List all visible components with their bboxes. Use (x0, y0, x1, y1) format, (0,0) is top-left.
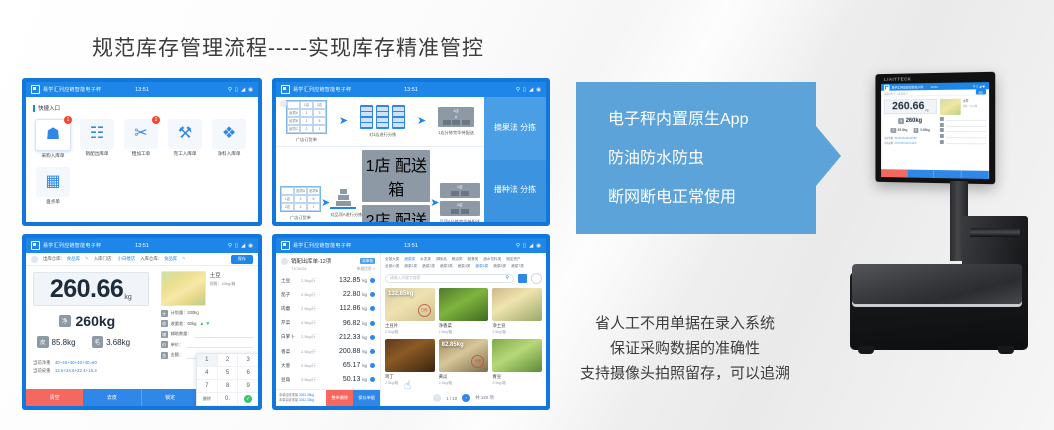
clock-icon: ◉ (248, 243, 253, 249)
clear-button[interactable]: 清空 (26, 389, 83, 406)
item-qty: 132.85 (327, 277, 360, 284)
search-icon[interactable]: ⚲ (228, 243, 232, 249)
total-count: 共 120 项 (475, 395, 494, 401)
device-net-row: 净 260kg (884, 118, 937, 124)
weight-value: 260.66 (50, 277, 123, 302)
edit-icon[interactable]: ✎ (182, 256, 186, 262)
product-name: 土豆 (210, 271, 236, 279)
product-summary: 土豆 规格：40kg/箱 (161, 271, 253, 306)
net-value: 260kg (76, 313, 116, 329)
field-label: 收量差：60kg (171, 321, 197, 327)
tile-label: 销配出库单 (76, 151, 118, 157)
product-image (161, 271, 206, 306)
item-qty: 112.86 (327, 305, 360, 312)
key-7[interactable]: 7 (197, 380, 218, 393)
weight-overlay: 82.85kg (442, 342, 464, 348)
field-price[interactable]: 价 单价： (161, 341, 253, 348)
tile-label: 完工入库单 (164, 151, 206, 157)
tile-finished-inbound[interactable]: ⚒ 完工入库单 (164, 119, 206, 159)
item-unit: kg (362, 349, 367, 354)
category-filter-row-2[interactable]: 全部小类 蔬菜1类 蔬菜2类 蔬菜3类 蔬菜4类 蔬菜5类 蔬菜6类 蔬菜7类 (385, 263, 542, 270)
cart-icon (330, 189, 356, 209)
device-field-row (940, 122, 986, 126)
order-mini-table: 品项A品项B 1店35 2店21 (280, 186, 321, 212)
numeric-keypad[interactable]: 1 2 3 4 5 6 7 8 9 删除 0. ✓ (196, 353, 258, 406)
status-bar: 易学汇列应链智能电子秤 13:51 ⚲ ▯ ◢ ◉ (276, 82, 546, 97)
status-icons: ⚲ ▯ ◢ ◉ (228, 243, 253, 249)
key-6[interactable]: 6 (238, 367, 258, 380)
callout-line-2: 防油防水防虫 (608, 151, 816, 167)
product-name: 净香菜 (439, 323, 489, 329)
sum2-value: 3262.33kg (299, 398, 314, 402)
item-spec: 2.5kg/斤 (301, 377, 327, 383)
flow-step-caption: 广店订货单 (286, 137, 327, 143)
weigh-toolbar: 出库仓库: 食品库 ✎ 入库门店: 小白楼店 入库仓库: 食品库 ✎ 保存 (26, 253, 258, 266)
in-warehouse-label: 入库仓库: (140, 256, 159, 262)
flow-row-pick-method: 1店2店 品项A13 品项B15 品项C21 广店订货单 ➤ (276, 97, 484, 146)
field-diff-qty: 收 收量差：60kg ▲▼ (161, 320, 253, 327)
subcategory-7[interactable]: 蔬菜7类 (511, 264, 524, 268)
device-foot-left (858, 346, 874, 354)
page-indicator: 1 / 10 (446, 396, 457, 401)
item-name: 茄子 (281, 292, 301, 298)
table-row[interactable]: 芹菜 2.5kg/斤 96.82 kg (276, 316, 380, 330)
item-name: 芹菜 (281, 320, 301, 326)
flow-step-order-table: 1店2店 品项A13 品项B15 品项C21 广店订货单 (286, 100, 327, 143)
key-9[interactable]: 9 (238, 380, 258, 393)
subcategory-4[interactable]: 蔬菜4类 (458, 264, 471, 268)
app-logo-icon (31, 85, 40, 94)
result-box-store2: 2店 (440, 201, 480, 216)
device-brand-label: LIAITTECK (884, 76, 912, 81)
prev-page-button[interactable]: ‹ (433, 394, 441, 402)
item-spec: 2.5kg/斤 (301, 334, 327, 340)
tare-sum-row: 当前皮重 12.5+34.6+22.4+16.3 (33, 367, 149, 375)
device-gross-value: 3.68kg (920, 128, 930, 132)
product-card-grid: 132.85kg 已称 土豆片 2.5kg/箱 净香菜 2.5kg/箱 净土豆 (385, 288, 542, 386)
delivery-tag: 2店 配送箱 (362, 205, 430, 222)
result-box-title: 2店 (442, 203, 478, 208)
key-2[interactable]: 2 (218, 354, 239, 367)
order-mini-table: 1店2店 品项A13 品项B15 品项C21 (286, 100, 327, 134)
flow-step-caption: 品项A分拣完毕待配送 (440, 219, 480, 223)
subcategory-3[interactable]: 蔬菜3类 (440, 264, 453, 268)
tare-gross-row: 皮 85.8kg 毛 3.68kg (37, 336, 149, 348)
subcategory-1[interactable]: 蔬菜1类 (404, 264, 417, 268)
result-box-store1: 1店 (440, 183, 480, 198)
device-tare-gross-row: 皮85.8kg 毛3.68kg (884, 128, 937, 132)
product-name: 净土豆 (492, 323, 542, 329)
arrow-right-icon: ➤ (430, 198, 439, 209)
callout-line-1: 电子秤内置原生App (608, 112, 816, 128)
weight-display: 260.66 kg (33, 272, 149, 306)
subcategory-all[interactable]: 全部小类 (385, 264, 399, 268)
item-check-icon[interactable] (370, 321, 375, 326)
table-row[interactable]: 豆角 2.5kg/斤 50.13 kg (276, 373, 380, 387)
battery-icon: ▯ (235, 87, 238, 93)
net-sum-label: 当前净重 (33, 360, 51, 365)
feature-callout: 电子秤内置原生App 防油防水防虫 断网断电正常使用 (576, 82, 816, 234)
wifi-icon: ◢ (529, 87, 533, 93)
subcategory-5[interactable]: 蔬菜5类 (476, 264, 489, 268)
product-card[interactable]: 青豆 2.5kg/箱 (492, 339, 542, 386)
trend-icon: ▲▼ (199, 321, 211, 327)
item-check-icon[interactable] (370, 377, 375, 382)
item-spec: 2.5kg/斤 (301, 278, 327, 284)
product-card[interactable]: 净香菜 2.5kg/箱 (439, 288, 489, 335)
grid-icon: ▦ (36, 167, 70, 197)
tile-sales-outbound[interactable]: ☷ 销配出库单 (76, 119, 118, 159)
key-8[interactable]: 8 (218, 380, 239, 393)
order-title: 销配出库单-12项 (291, 257, 331, 265)
device-clock: 13:51 (881, 84, 989, 90)
device-weight-unit: kg (925, 108, 928, 112)
tare-sum-label: 当前皮重 (33, 368, 51, 373)
key-4[interactable]: 4 (197, 367, 218, 380)
sum1-label: 本单应收重量 (279, 393, 298, 397)
flow-side-labels: 摘果法 分拣 播种法 分拣 (484, 97, 546, 222)
device-sum2-label: 当前皮重 (884, 141, 893, 144)
table-row[interactable]: 香菜 2.5kg/斤 200.88 kg (276, 344, 380, 358)
field-label: 辅助数量： (171, 331, 192, 337)
tare-button[interactable]: 去皮 (83, 389, 141, 406)
device-tare-tag: 皮 (891, 128, 896, 133)
gross-tag: 毛 (92, 336, 104, 348)
item-name: 白萝卜 (281, 334, 301, 340)
net-sum-row: 当前净重 40+40+40+40+40=60 (33, 359, 149, 367)
tile-purchase-inbound[interactable]: 1 ☗ 采购入库单 (32, 119, 74, 159)
net-tag: 净 (59, 315, 71, 327)
device-screen: LIAITTECK 易学汇供应链智能电子秤 13:51 ⚲▯◢◉ 出库仓库 ✎ … (875, 72, 995, 185)
item-spec: 2.5kg/斤 (301, 306, 327, 312)
device-product-image (940, 99, 961, 115)
status-icons: ⚲ ▯ ◢ ◉ (516, 87, 541, 93)
device-product: 土豆 规格：40kg/箱 (940, 98, 986, 115)
net-weight-row: 净 260kg (59, 313, 149, 329)
quick-entry-section-title: 快捷入口 (33, 104, 258, 112)
diff-icon: 收 (161, 320, 168, 327)
field-plan-qty: 计 计划量：200kg (161, 310, 253, 317)
product-spec: 2.5kg/箱 (492, 381, 542, 386)
product-spec: 规格：40kg/箱 (210, 281, 236, 287)
item-unit: kg (362, 377, 367, 382)
flow-step-result: 1店 2店 品项A分拣完毕待配送 (440, 183, 480, 223)
device-save-button[interactable]: 保存 (975, 89, 986, 94)
scale-device-photo: LIAITTECK 易学汇供应链智能电子秤 13:51 ⚲▯◢◉ 出库仓库 ✎ … (846, 58, 1054, 430)
in-store-label: 入库门店: (94, 256, 113, 262)
battery-icon: ▯ (523, 243, 526, 249)
search-icon[interactable]: ⚲ (516, 87, 520, 93)
next-page-button[interactable]: › (462, 394, 470, 402)
subcategory-2[interactable]: 蔬菜2类 (422, 264, 435, 268)
device-field-row (940, 134, 986, 138)
product-spec: 2.5kg/箱 (439, 330, 489, 335)
weight-unit: kg (124, 294, 131, 301)
table-row[interactable]: 肉蘑 2.5kg/斤 112.86 kg (276, 302, 380, 316)
aux-icon: 辅 (161, 331, 168, 338)
edit-icon[interactable]: ✎ (85, 256, 89, 262)
device-sums: 当前净重40+40+40+40+40=60 当前皮重12.5+34.6+22.4… (884, 137, 937, 146)
product-image: 82.85kg 已称 (439, 339, 489, 372)
device-sum1-value: 40+40+40+40+40=60 (894, 137, 916, 140)
item-name: 豆角 (281, 377, 301, 383)
battery-icon: ▯ (235, 243, 238, 249)
item-spec: 2.5kg/斤 (301, 320, 327, 326)
status-badge: 未审核 (360, 258, 375, 264)
category-fixed-assets[interactable]: 固定资产 (506, 257, 520, 261)
device-gross-tag: 毛 (913, 128, 918, 133)
category-all[interactable]: 全部大类 (385, 257, 399, 261)
table-row[interactable]: 白萝卜 2.5kg/斤 212.33 kg (276, 330, 380, 344)
app-logo-icon (31, 241, 40, 250)
item-check-icon[interactable] (370, 363, 375, 368)
product-image (492, 339, 542, 372)
pagination: ‹ 1 / 10 › 共 120 项 (385, 391, 542, 406)
item-unit: kg (362, 363, 367, 368)
device-weight-display: 260.66 kg (884, 99, 937, 114)
order-footer: 本单应收重量 3262.35kg 本单实收重量 3262.33kg 整单删除 保… (276, 389, 380, 406)
flow-step-racks: 对1店进行分拣 (360, 105, 405, 139)
inbound-basket-icon: ☗ (35, 119, 71, 151)
net-sum-value: 40+40+40+40+40=60 (55, 360, 97, 365)
field-input[interactable] (195, 331, 253, 338)
grid-view-icon[interactable] (518, 274, 527, 283)
save-order-button[interactable]: 保存单据 (353, 390, 380, 406)
device-action-bar (881, 169, 989, 179)
product-spec: 2.5kg/箱 (385, 330, 435, 335)
out-warehouse-value[interactable]: 食品库 (67, 256, 80, 262)
flow-step-caption: 广店订货单 (280, 215, 321, 221)
result-box-title: 1店 (442, 185, 478, 190)
tile-badge: 1 (64, 116, 72, 124)
product-card[interactable]: 净土豆 2.5kg/箱 (492, 288, 542, 335)
device-field-row (940, 128, 986, 132)
avatar (31, 256, 38, 263)
lock-button[interactable]: 锁定 (142, 389, 200, 406)
item-unit: kg (362, 321, 367, 326)
tile-rough-processing[interactable]: 2 ✂ 粗加工单 (120, 119, 162, 159)
field-label: 计划量：200kg (171, 310, 199, 316)
delivery-tags: 1店 配送箱 2店 配送箱 (362, 150, 430, 222)
product-image: 132.85kg 已称 (385, 288, 435, 321)
item-unit: kg (362, 335, 367, 340)
order-totals: 本单应收重量 3262.35kg 本单实收重量 3262.33kg (276, 393, 314, 403)
category-seasoning[interactable]: 调味品 (436, 257, 447, 261)
screenshot-sorting-flow: 易学汇列应链智能电子秤 13:51 ⚲ ▯ ◢ ◉ 1店2店 品项A13 品项B… (272, 78, 550, 226)
arrow-right-icon: ➤ (321, 198, 330, 209)
delivery-tag: 1店 配送箱 (362, 150, 430, 202)
device-sum2-value: 12.5+34.6+22.4+16.3 (894, 141, 916, 144)
result-box-title: 1店 (440, 109, 472, 114)
field-aux-qty[interactable]: 辅 辅助数量： (161, 331, 253, 338)
key-5[interactable]: 5 (218, 367, 239, 380)
field-label: 单价： (171, 342, 184, 348)
tile-label: 盘点单 (32, 199, 74, 205)
field-label: 金额： (171, 352, 184, 358)
flow-step-caption: 1店分拣完毕待配送 (438, 130, 474, 136)
category-filter-row-1[interactable]: 全部大类 蔬菜类 水发类 调味品 粮油类 副食类 酒水饮料类 固定资产 (385, 256, 542, 263)
device-tare-button[interactable] (907, 170, 934, 178)
table-row[interactable]: 土豆 2.5kg/斤 132.85 kg (276, 274, 380, 288)
item-check-icon[interactable] (370, 292, 375, 297)
tare-value: 85.8kg (52, 338, 76, 347)
avatar (281, 258, 288, 265)
tile-net-material-inbound[interactable]: ❖ 净料入库单 (208, 119, 250, 159)
knife-icon: ✂ (124, 119, 158, 149)
item-unit: kg (362, 292, 367, 297)
item-spec: 2.5kg/斤 (301, 292, 327, 298)
flow-step-caption: 对1店进行分拣 (360, 132, 405, 138)
caption-line-3: 支持摄像头拍照留存，可以追溯 (540, 362, 830, 387)
result-box-item: A (440, 115, 472, 119)
save-button[interactable]: 保存 (231, 255, 253, 264)
screenshot-weighing: 易学汇列应链智能电子秤 13:51 ⚲ ▯ ◢ ◉ 出库仓库: 食品库 ✎ 入库… (22, 234, 262, 410)
item-unit: kg (362, 306, 367, 311)
device-product-name: 土豆 (963, 99, 977, 103)
product-spec: 2.5kg/箱 (439, 381, 489, 386)
product-spec: 2.5kg/箱 (492, 330, 542, 335)
device-field-row (940, 117, 986, 121)
search-icon[interactable]: ⚲ (505, 275, 509, 281)
app-logo-icon (281, 85, 290, 94)
product-image (439, 288, 489, 321)
status-bar: 易学汇列应链智能电子秤 13:51 ⚲ ▯ ◢ ◉ (276, 238, 546, 253)
device-net-value: 260kg (906, 118, 922, 124)
tile-label: 净料入库单 (208, 151, 250, 157)
search-icon[interactable]: ⚲ (228, 87, 232, 93)
side-label-pick-method[interactable]: 摘果法 分拣 (484, 97, 546, 160)
category-water[interactable]: 水发类 (420, 257, 431, 261)
weighed-stamp: 已称 (418, 304, 431, 317)
tare-sum-value: 12.5+34.6+22.4+16.3 (55, 368, 97, 373)
result-box: 1店 A (438, 107, 474, 127)
item-check-icon[interactable] (370, 349, 375, 354)
rack-group-icon (360, 105, 405, 130)
status-bar: 易学汇列应链智能电子秤 13:51 ⚲ ▯ ◢ ◉ (26, 82, 258, 97)
category-sides[interactable]: 副食类 (468, 257, 479, 261)
weight-overlay: 132.85kg (388, 291, 413, 297)
app-name: 易学汇列应链智能电子秤 (43, 242, 101, 249)
device-save-record-button[interactable] (961, 170, 989, 179)
order-item-list: 土豆 2.5kg/斤 132.85 kg 茄子 2.5kg/斤 22.80 kg (276, 274, 380, 390)
gross-value: 3.68kg (106, 338, 130, 347)
item-check-icon[interactable] (370, 306, 375, 311)
product-name: 土豆片 (385, 323, 435, 329)
key-confirm[interactable]: ✓ (238, 393, 258, 406)
search-placeholder: 请输入关键字搜索 (390, 276, 420, 281)
product-card[interactable]: 132.85kg 已称 土豆片 2.5kg/箱 (385, 288, 435, 335)
out-warehouse-label: 出库仓库: (43, 256, 62, 262)
category-grain-oil[interactable]: 粮油类 (452, 257, 463, 261)
table-row[interactable]: 茄子 2.5kg/斤 22.80 kg (276, 288, 380, 302)
stack-icon: ❖ (212, 119, 246, 149)
order-header: 销配出库单-12项 未审核 TJCK001 单据信息 > (276, 253, 380, 274)
side-label-seed-method[interactable]: 播种法 分拣 (484, 160, 546, 223)
benefits-caption: 省人工不用单据在录入系统 保证采购数据的准确性 支持摄像头拍照留存，可以追溯 (540, 312, 830, 386)
item-unit: kg (362, 278, 367, 283)
caption-line-1: 省人工不用单据在录入系统 (540, 312, 830, 337)
flow-step-caption: 对品项A进行分拣 (330, 212, 362, 218)
item-qty: 65.17 (327, 362, 360, 369)
arrow-right-icon: ➤ (339, 116, 348, 127)
device-status-bar: 易学汇供应链智能电子秤 13:51 ⚲▯◢◉ (881, 82, 989, 91)
status-bar: 易学汇列应链智能电子秤 13:51 ⚲ ▯ ◢ ◉ (26, 238, 258, 253)
pointing-hand-icon: ☝ (404, 378, 411, 392)
key-backspace[interactable]: 删除 (197, 393, 218, 406)
clock-icon: ◉ (248, 87, 253, 93)
callout-line-3: 断网断电正常使用 (608, 190, 816, 206)
item-check-icon[interactable] (370, 335, 375, 340)
tile-label: 采购入库单 (32, 153, 74, 159)
field-input[interactable] (186, 341, 253, 348)
gear-icon[interactable] (531, 273, 542, 284)
search-icon[interactable]: ⚲ (516, 243, 520, 249)
key-3[interactable]: 3 (238, 354, 258, 367)
app-name: 易学汇列应链智能电子秤 (293, 86, 351, 93)
key-dot-zero[interactable]: 0. (218, 393, 239, 406)
item-name: 肉蘑 (281, 306, 301, 312)
search-input[interactable]: 请输入关键字搜索 ⚲ (385, 274, 514, 283)
item-spec: 2.5kg/斤 (301, 349, 327, 355)
printer-slot (970, 228, 1020, 237)
device-tare-value: 85.8kg (898, 128, 908, 132)
item-name: 土豆 (281, 278, 301, 284)
product-card[interactable]: 82.85kg 已称 黄瓜 2.5kg/箱 (439, 339, 489, 386)
tare-weight: 皮 85.8kg (37, 336, 76, 348)
weight-sums: 当前净重 40+40+40+40+40=60 当前皮重 12.5+34.6+22… (33, 359, 149, 375)
app-name: 易学汇列应链智能电子秤 (293, 242, 351, 249)
tile-stocktake[interactable]: ▦ 盘点单 (32, 167, 74, 205)
item-qty: 96.82 (327, 320, 360, 327)
order-detail-link[interactable]: 单据信息 > (357, 267, 375, 272)
status-icons: ⚲ ▯ ◢ ◉ (516, 243, 541, 249)
category-drinks[interactable]: 酒水饮料类 (483, 257, 501, 261)
delete-order-button[interactable]: 整单删除 (326, 390, 353, 406)
tools-icon: ⚒ (168, 119, 202, 149)
device-clear-button[interactable] (881, 169, 907, 177)
in-warehouse-value[interactable]: 食品库 (164, 256, 177, 262)
gross-weight: 毛 3.68kg (92, 336, 131, 348)
product-name: 黄瓜 (439, 374, 489, 380)
battery-icon: ▯ (523, 87, 526, 93)
flow-row-seed-method: 品项A品项B 1店35 2店21 广店订货单 ➤ 对品项A进行分拣 (276, 146, 484, 222)
weighed-stamp: 已称 (471, 355, 484, 368)
amount-icon: 金 (161, 352, 168, 359)
caption-line-2: 保证采购数据的准确性 (540, 337, 830, 362)
order-code: TJCK001 (291, 267, 307, 272)
in-store-value[interactable]: 小白楼店 (118, 256, 136, 262)
back-icon[interactable] (280, 100, 287, 107)
category-vegetables[interactable]: 蔬菜类 (404, 257, 415, 261)
quick-entry-tiles: 1 ☗ 采购入库单 ☷ 销配出库单 2 ✂ 粗加工单 ⚒ 完工入库单 ❖ 净料入… (26, 115, 258, 215)
app-logo-icon (281, 241, 290, 250)
device-product-spec: 规格：40kg/箱 (963, 104, 977, 108)
sum1-value: 3262.35kg (299, 393, 314, 397)
item-name: 香菜 (281, 349, 301, 355)
device-net-tag: 净 (898, 118, 903, 124)
subcategory-6[interactable]: 蔬菜6类 (493, 264, 506, 268)
device-lock-button[interactable] (934, 170, 961, 179)
callout-arrow-icon (816, 126, 841, 186)
device-field-row (940, 140, 986, 144)
flow-step-order-table: 品项A品项B 1店35 2店21 广店订货单 (280, 186, 321, 221)
product-image (492, 288, 542, 321)
table-row[interactable]: 大葱 2.5kg/斤 65.17 kg (276, 359, 380, 373)
item-check-icon[interactable] (370, 278, 375, 283)
outbound-box-icon: ☷ (80, 119, 114, 149)
item-qty: 200.88 (327, 348, 360, 355)
key-1[interactable]: 1 (197, 354, 218, 367)
